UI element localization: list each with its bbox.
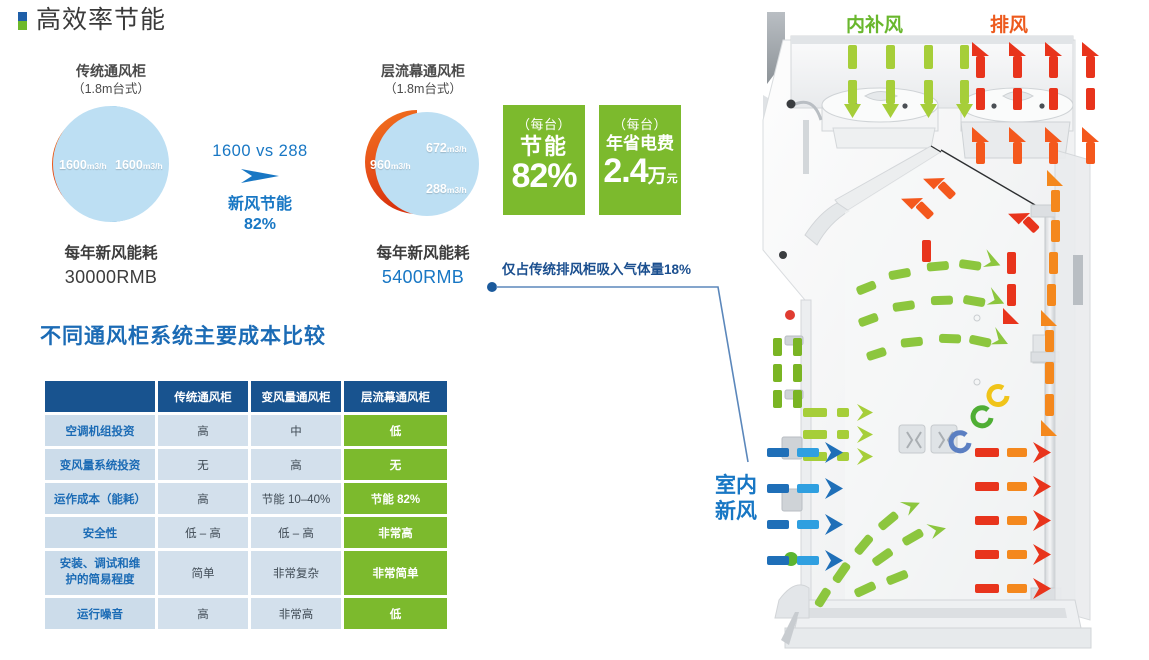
- table-row-5-cell-2: 低: [344, 598, 447, 629]
- fume-hood-diagram: [745, 0, 1149, 660]
- table-row-4-cell-2: 非常简单: [344, 551, 447, 595]
- table-row-2-cell-1: 节能 10–40%: [251, 483, 341, 514]
- badge-0-mid-label: 节能: [520, 135, 568, 159]
- badge-1-value: 2.4万元: [603, 154, 676, 188]
- chart-right-subtitle: （1.8m台式）: [330, 81, 516, 98]
- pie-left-slice-1-label: 1600m3/h: [115, 158, 163, 172]
- page-title: 高效率节能: [36, 8, 166, 33]
- table-header-row: 传统通风柜 变风量通风柜 层流幕通风柜: [45, 381, 447, 412]
- table-row-4-cell-0: 简单: [158, 551, 248, 595]
- chart-right-caption: 层流幕通风柜 （1.8m台式）: [330, 62, 516, 98]
- chart-right-title: 层流幕通风柜: [330, 62, 516, 81]
- chart-left-footer-label: 每年新风能耗: [18, 244, 204, 265]
- badge-1-top-label: （每台）: [613, 114, 667, 133]
- chart-left-footer: 每年新风能耗 30000RMB: [18, 244, 204, 289]
- table-row-0-cell-0: 高: [158, 415, 248, 446]
- table-row-0-cell-2: 低: [344, 415, 447, 446]
- table-row-4-cell-1: 非常复杂: [251, 551, 341, 595]
- table-col-header-2: 变风量通风柜: [251, 381, 341, 412]
- cost-comparison-table: 传统通风柜 变风量通风柜 层流幕通风柜 空调机组投资 高 中 低 变风量系统投资…: [42, 378, 450, 632]
- chart-traditional-hood: 传统通风柜 （1.8m台式） 1600m3/h 16: [18, 62, 204, 289]
- diagram-label-indoor-line2: 新风: [715, 499, 757, 525]
- comparison-saving-value: 82%: [196, 215, 324, 235]
- badge-energy-saving: （每台） 节能 82%: [503, 105, 585, 215]
- diagram-label-exhaust-air: 排风: [990, 10, 1028, 37]
- comparison-arrow-icon: [196, 165, 324, 192]
- chart-left-title: 传统通风柜: [18, 62, 204, 81]
- callout-leader-line: [480, 270, 770, 480]
- callout-dot-icon: [487, 282, 497, 292]
- table-row-4-header-line2: 护的简易程度: [66, 574, 135, 586]
- header-marks: [18, 12, 27, 30]
- pie-left-slice-0-label: 1600m3/h: [59, 158, 107, 172]
- table-row: 空调机组投资 高 中 低: [45, 415, 447, 446]
- table-col-header-1: 传统通风柜: [158, 381, 248, 412]
- pie-right-slice-0-label: 960m3/h: [370, 158, 411, 172]
- badge-0-value: 82%: [511, 159, 576, 193]
- chart-left-subtitle: （1.8m台式）: [18, 81, 204, 98]
- header-square-green-icon: [18, 21, 27, 30]
- table-row: 安全性 低 – 高 低 – 高 非常高: [45, 517, 447, 548]
- diagram-label-indoor-line1: 室内: [715, 473, 757, 499]
- pie-left: 1600m3/h 1600m3/h: [18, 104, 204, 224]
- table-row: 安装、调试和维 护的简易程度 简单 非常复杂 非常简单: [45, 551, 447, 595]
- table-row-5-cell-0: 高: [158, 598, 248, 629]
- pie-right: 960m3/h 672m3/h 288m3/h: [330, 104, 516, 224]
- table-row-3-cell-1: 低 – 高: [251, 517, 341, 548]
- pie-right-slice-1-label: 672m3/h: [426, 141, 467, 155]
- table-row: 运行噪音 高 非常高 低: [45, 598, 447, 629]
- table-row-3-header: 安全性: [45, 517, 155, 548]
- comparison-middle: 1600 vs 288 新风节能 82%: [196, 142, 324, 235]
- table-row-3-cell-0: 低 – 高: [158, 517, 248, 548]
- table-col-header-3: 层流幕通风柜: [344, 381, 447, 412]
- table-row-2-header: 运作成本（能耗）: [45, 483, 155, 514]
- chart-right-footer-label: 每年新风能耗: [330, 244, 516, 265]
- comparison-saving-label: 新风节能: [196, 195, 324, 215]
- table-row-1-cell-2: 无: [344, 449, 447, 480]
- table-row-0-cell-1: 中: [251, 415, 341, 446]
- table-row-0-header: 空调机组投资: [45, 415, 155, 446]
- table-row-4-header-line1: 安装、调试和维: [60, 558, 141, 570]
- chart-laminar-hood: 层流幕通风柜 （1.8m台式）: [330, 62, 516, 289]
- page-header: 高效率节能: [18, 8, 166, 33]
- table-row-5-header: 运行噪音: [45, 598, 155, 629]
- table-row-2-cell-2: 节能 82%: [344, 483, 447, 514]
- badge-yearly-savings: （每台） 年省电费 2.4万元: [599, 105, 681, 215]
- chart-left-footer-value: 30000RMB: [18, 265, 204, 289]
- table-row-5-cell-1: 非常高: [251, 598, 341, 629]
- diagram-label-indoor-air: 室内 新风: [715, 473, 757, 526]
- table-row-1-header: 变风量系统投资: [45, 449, 155, 480]
- comparison-ratio-text: 1600 vs 288: [196, 142, 324, 161]
- pie-right-slice-2-label: 288m3/h: [426, 182, 467, 196]
- diagram-label-supply-air: 内补风: [846, 10, 903, 37]
- table-row-4-header: 安装、调试和维 护的简易程度: [45, 551, 155, 595]
- table-row-1-cell-1: 高: [251, 449, 341, 480]
- table-row-3-cell-2: 非常高: [344, 517, 447, 548]
- table-section-title: 不同通风柜系统主要成本比较: [40, 320, 326, 350]
- badge-0-top-label: （每台）: [517, 114, 571, 133]
- infographic-page: 高效率节能 传统通风柜 （1.8m台式）: [0, 0, 1149, 660]
- table-row: 变风量系统投资 无 高 无: [45, 449, 447, 480]
- table-row-1-cell-0: 无: [158, 449, 248, 480]
- table-row: 运作成本（能耗） 高 节能 10–40% 节能 82%: [45, 483, 447, 514]
- chart-left-caption: 传统通风柜 （1.8m台式）: [18, 62, 204, 98]
- table-col-header-0: [45, 381, 155, 412]
- header-square-blue-icon: [18, 12, 27, 21]
- table-row-2-cell-0: 高: [158, 483, 248, 514]
